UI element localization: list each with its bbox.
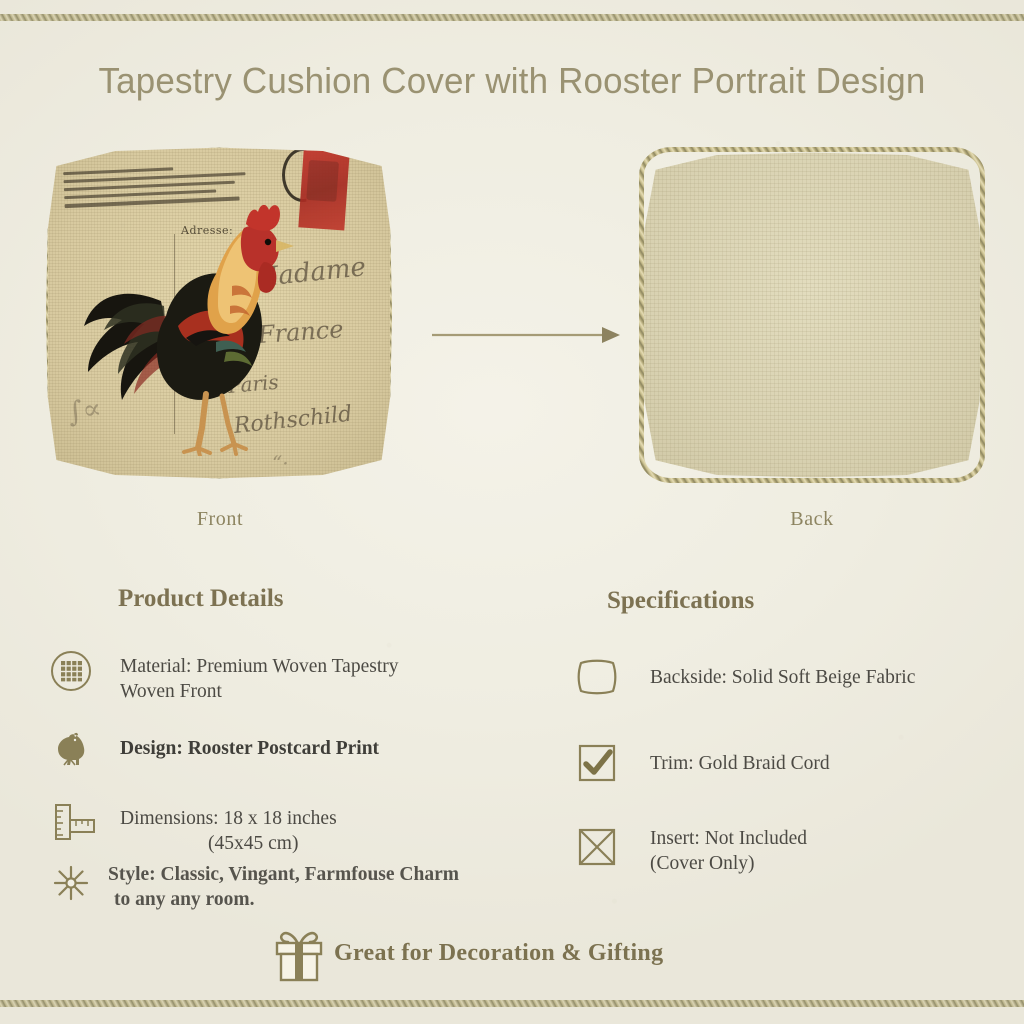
detail-text-design: Design: Rooster Postcard Print [120,736,520,761]
checkbox-crossed-icon [576,826,618,868]
spec-text-backside: Backside: Solid Soft Beige Fabric [650,665,1010,690]
detail-text-dimensions-metric: (45x45 cm) [208,831,528,856]
arrow-right-icon [432,322,622,348]
product-details-heading: Product Details [118,585,284,613]
footer-banner: Great for Decoration & Gifting [272,928,752,988]
caption-front: Front [120,508,320,531]
footer-text: Great for Decoration & Gifting [334,940,663,967]
sparkle-icon [50,862,92,904]
woven-grid-icon [50,650,92,692]
plain-pillow-face [642,150,982,480]
spec-text-trim: Trim: Gold Braid Cord [650,751,1010,776]
ruler-icon [50,800,96,846]
page-title: Tapestry Cushion Cover with Rooster Port… [15,60,1008,102]
detail-text-style-cont: to any any room. [114,887,554,912]
front-pillow-image: Adresse: Madame France Paris Rothschild … [46,146,392,480]
gift-box-icon [272,928,326,984]
rooster-icon [50,728,92,770]
caption-back: Back [712,508,912,531]
linen-texture [642,150,982,480]
specifications-heading: Specifications [607,587,754,615]
tapestry-pillow-face: Adresse: Madame France Paris Rothschild … [46,146,392,480]
detail-text-dimensions: Dimensions: 18 x 18 inches [120,806,520,831]
detail-text-material: Material: Premium Woven Tapestry Woven F… [120,654,520,704]
checkbox-checked-icon [576,742,618,784]
bottom-rope-border [0,1000,1024,1007]
infographic-page: Tapestry Cushion Cover with Rooster Port… [0,0,1024,1024]
pillow-outline-icon [576,656,618,698]
top-rope-border [0,14,1024,21]
rooster-illustration [66,166,336,456]
back-pillow-image [642,150,982,480]
spec-text-insert: Insert: Not Included (Cover Only) [650,826,1010,876]
detail-text-style: Style: Classic, Vingant, Farmfouse Charm [108,862,568,887]
